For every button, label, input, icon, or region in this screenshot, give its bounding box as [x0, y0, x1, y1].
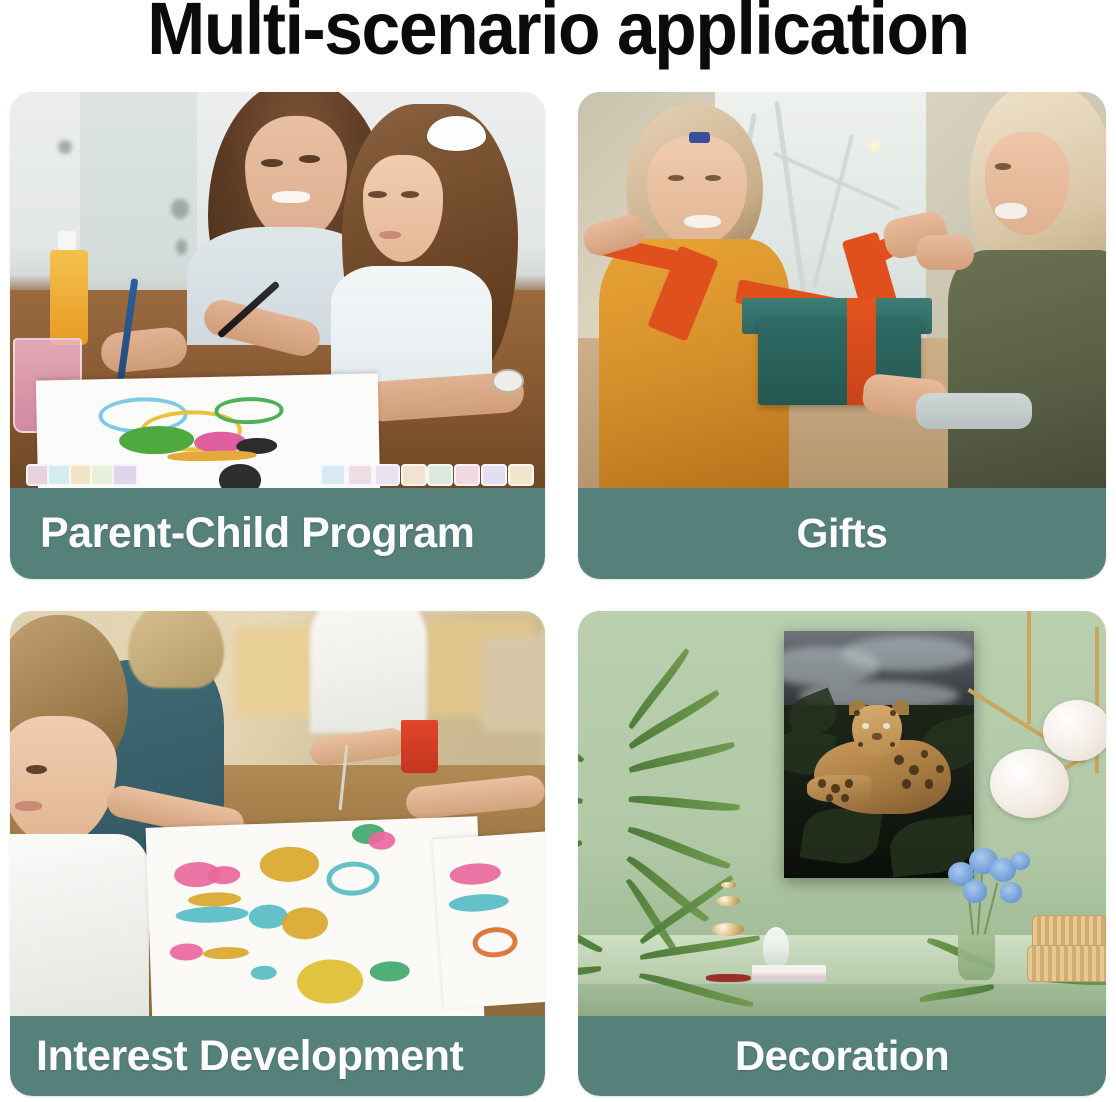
- photo-parent-child-program: [10, 92, 545, 488]
- scenario-card-interest-development[interactable]: Interest Development: [10, 611, 545, 1096]
- photo-decoration: [578, 611, 1106, 1016]
- caption-band-gifts: Gifts: [578, 488, 1106, 579]
- caption-band-decoration: Decoration: [578, 1016, 1106, 1096]
- caption-band-parent-child-program: Parent-Child Program: [10, 488, 545, 579]
- card-caption: Parent-Child Program: [10, 509, 545, 558]
- caption-band-interest-development: Interest Development: [10, 1016, 545, 1096]
- scenario-card-grid: Parent-Child Program: [10, 92, 1106, 1096]
- wall-art-frame: [784, 631, 974, 878]
- card-caption: Interest Development: [10, 1032, 545, 1081]
- photo-gifts: [578, 92, 1106, 488]
- scenario-card-parent-child-program[interactable]: Parent-Child Program: [10, 92, 545, 579]
- scenario-card-decoration[interactable]: Decoration: [578, 611, 1106, 1096]
- multi-scenario-application-page: Multi-scenario application: [0, 0, 1116, 1102]
- gold-gourd-ornament: [710, 882, 747, 979]
- page-title: Multi-scenario application: [33, 0, 1082, 68]
- scenario-card-gifts[interactable]: Gifts: [578, 92, 1106, 579]
- card-caption: Decoration: [578, 1032, 1106, 1080]
- photo-interest-development: [10, 611, 545, 1016]
- card-caption: Gifts: [578, 510, 1106, 557]
